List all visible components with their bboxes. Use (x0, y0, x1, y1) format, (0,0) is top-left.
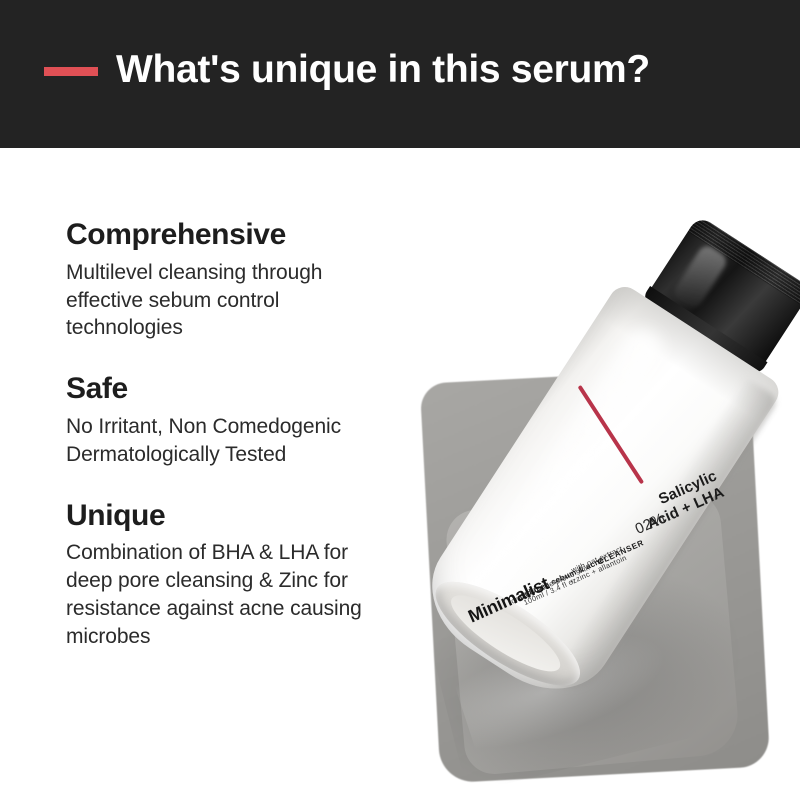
header-band: What's unique in this serum? (0, 0, 800, 148)
feature-item-safe: Safe No Irritant, Non Comedogenic Dermat… (66, 372, 446, 468)
label-accent-stripe (578, 385, 645, 484)
feature-description: Multilevel cleansing through effective s… (66, 259, 446, 343)
feature-title: Safe (66, 372, 446, 406)
feature-title: Unique (66, 499, 446, 533)
feature-item-unique: Unique Combination of BHA & LHA for deep… (66, 499, 446, 651)
feature-item-comprehensive: Comprehensive Multilevel cleansing throu… (66, 218, 446, 342)
product-feature-graphic: What's unique in this serum? Comprehensi… (0, 0, 800, 800)
feature-list: Comprehensive Multilevel cleansing throu… (66, 218, 446, 651)
accent-dash-icon (44, 67, 98, 76)
feature-title: Comprehensive (66, 218, 446, 252)
feature-description: No Irritant, Non Comedogenic Dermatologi… (66, 413, 446, 469)
page-title: What's unique in this serum? (116, 50, 650, 89)
header-content: What's unique in this serum? (44, 50, 650, 89)
feature-description: Combination of BHA & LHA for deep pore c… (66, 539, 446, 651)
product-image: Salicylic Acid + LHA 02% CLEANSER with o… (400, 170, 800, 800)
